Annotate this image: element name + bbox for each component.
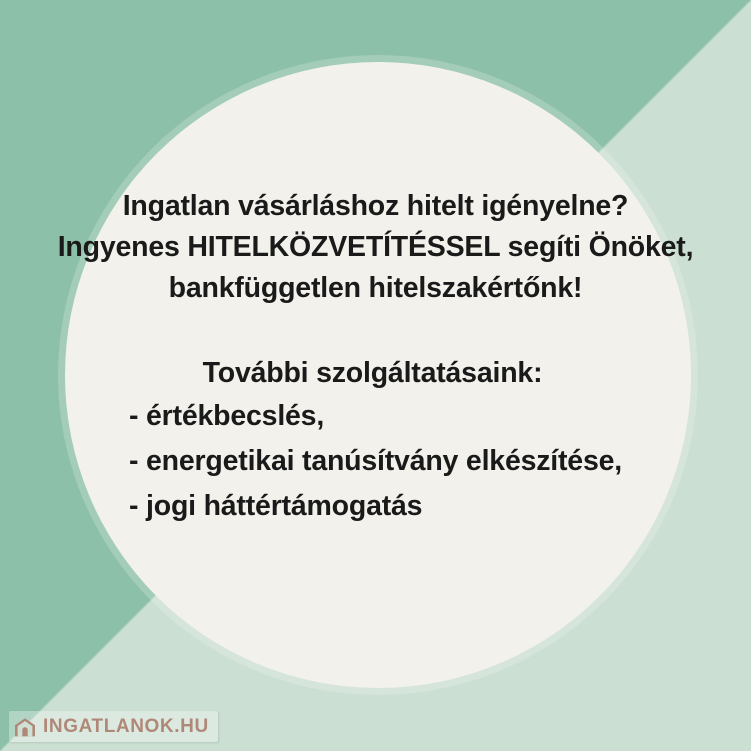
list-item: - értékbecslés, xyxy=(129,394,622,439)
house-icon xyxy=(14,716,36,738)
poster-canvas: ingatlan ok.hu Ingatlan vásárláshoz hite… xyxy=(0,0,751,751)
content-block: Ingatlan vásárláshoz hitelt igényelne? I… xyxy=(0,186,751,529)
list-item: - jogi háttértámogatás xyxy=(129,484,622,529)
services-title: További szolgáltatásaink: xyxy=(0,353,751,394)
headline-line-2: Ingyenes HITELKÖZVETÍTÉSSEL segíti Önöke… xyxy=(0,227,751,268)
site-watermark-label: INGATLANOK.HU xyxy=(43,716,209,738)
headline-line-1: Ingatlan vásárláshoz hitelt igényelne? xyxy=(0,186,751,227)
services-block: További szolgáltatásaink: - értékbecslés… xyxy=(0,353,751,529)
list-item: - energetikai tanúsítvány elkészítése, xyxy=(129,439,622,484)
headline: Ingatlan vásárláshoz hitelt igényelne? I… xyxy=(0,186,751,309)
headline-line-3: bankfüggetlen hitelszakértőnk! xyxy=(0,268,751,309)
site-watermark: INGATLANOK.HU xyxy=(9,711,218,742)
service-list: - értékbecslés, - energetikai tanúsítván… xyxy=(129,394,622,529)
